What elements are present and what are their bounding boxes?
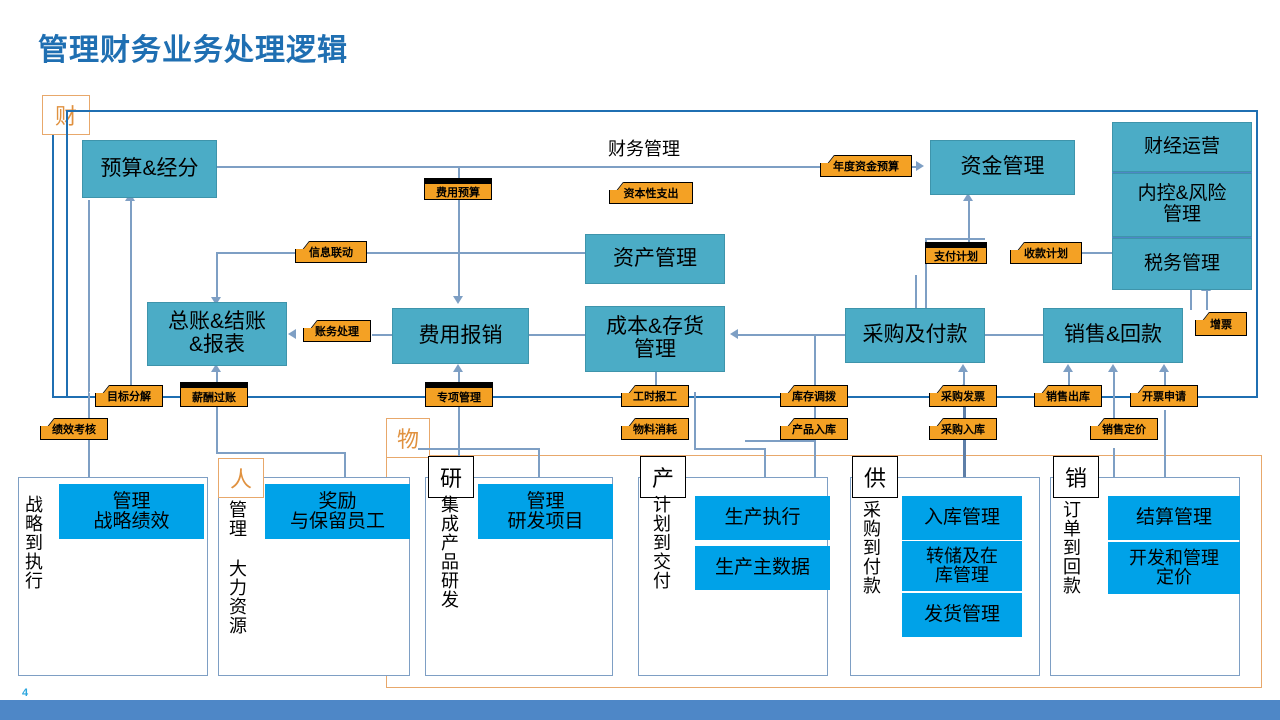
box-asset[interactable]: 资产管理	[585, 234, 725, 284]
box-fund[interactable]: 资金管理	[930, 140, 1075, 195]
hours-down-line	[694, 392, 696, 448]
stock-transfer-line	[814, 334, 816, 494]
tag-acct-process[interactable]: 账务处理	[303, 320, 371, 342]
zone-tab-supply: 供	[852, 456, 898, 498]
tag-salary-post[interactable]: 薪酬过账	[180, 382, 248, 407]
expense-to-gl-line	[372, 334, 392, 336]
budget-to-fund-line	[217, 166, 917, 168]
stock-transfer-rail	[745, 334, 815, 336]
box-gl[interactable]: 总账&结账 &报表	[147, 302, 287, 366]
unit-production-item-0[interactable]: 生产执行	[695, 496, 830, 540]
tag-sales-price[interactable]: 销售定价	[1090, 418, 1158, 440]
finance-left-rail	[66, 110, 68, 398]
goalsplit-to-budget-line	[130, 200, 132, 390]
box-expense[interactable]: 费用报销	[392, 308, 529, 364]
purchase-top-line	[915, 275, 917, 308]
unit-hr-item-0[interactable]: 奖励 与保留员工	[265, 484, 410, 539]
unit-rd-side-label: 集成产品研发	[440, 495, 458, 660]
zone-tab-material: 物	[386, 418, 430, 458]
expense-top-arrow	[453, 296, 463, 304]
sales-arrow-3	[1159, 364, 1169, 372]
page-number: 4	[22, 687, 28, 699]
unit-sales-item-0[interactable]: 结算管理	[1108, 496, 1240, 540]
label-finance-management: 财务管理	[608, 135, 680, 161]
tag-fee-budget[interactable]: 费用预算	[424, 178, 492, 200]
unit-sales-side-label: 订单到回款	[1062, 500, 1080, 660]
unit-supply-item-0[interactable]: 入库管理	[902, 496, 1022, 540]
tag-pay-plan[interactable]: 支付计划	[925, 242, 987, 264]
cost-left-arrow	[730, 329, 738, 339]
salary-down-rail	[216, 452, 344, 454]
sales-to-purchase-line	[985, 334, 1043, 336]
unit-strategy-item-0[interactable]: 管理 战略绩效	[59, 484, 204, 539]
sales-arrow-1	[1063, 364, 1073, 372]
tag-info-link[interactable]: 信息联动	[295, 241, 367, 263]
page-title: 管理财务业务处理逻辑	[38, 25, 348, 69]
tag-stock-transfer[interactable]: 库存调拨	[780, 385, 848, 407]
unit-supply-item-1[interactable]: 转储及在 库管理	[902, 541, 1022, 591]
expense-top-line	[458, 200, 460, 300]
tag-invoice-request[interactable]: 开票申请	[1130, 385, 1198, 407]
zone-tab-production: 产	[640, 456, 686, 498]
cost-to-expense-line	[529, 334, 585, 336]
unit-strategy-side-label: 战略到执行	[24, 495, 42, 655]
footer-bar	[0, 700, 1280, 720]
tag-perf-review[interactable]: 绩效考核	[40, 418, 108, 440]
fund-arrow	[916, 161, 924, 171]
tag-sales-out[interactable]: 销售出库	[1034, 385, 1102, 407]
tag-material-use[interactable]: 物料消耗	[621, 418, 689, 440]
unit-hr-side-label: 管理 大力资源	[228, 500, 246, 660]
special-down-rail	[418, 448, 538, 450]
tag-special-mgmt[interactable]: 专项管理	[425, 382, 493, 407]
infolink-down-line	[216, 252, 218, 302]
zone-tab-hr: 人	[218, 458, 264, 498]
tag-work-hours[interactable]: 工时报工	[621, 385, 689, 407]
tag-annual-fund-plan[interactable]: 年度资金预算	[820, 155, 912, 177]
box-sales-collect[interactable]: 销售&回款	[1043, 308, 1183, 363]
asset-infolink-line	[367, 252, 587, 254]
tag-capital-expend[interactable]: 资本性支出	[609, 182, 693, 204]
box-risk[interactable]: 内控&风险 管理	[1112, 173, 1252, 237]
gl-left-arrow	[288, 329, 296, 339]
expense-bottom-arrow	[453, 364, 463, 372]
zone-tab-rd: 研	[428, 456, 474, 498]
unit-supply-item-2[interactable]: 发货管理	[902, 593, 1022, 637]
tag-goal-split[interactable]: 目标分解	[95, 385, 163, 407]
infolink-left-line	[216, 252, 296, 254]
unit-production-side-label: 计划到交付	[652, 495, 670, 655]
unit-sales-item-1[interactable]: 开发和管理 定价	[1108, 542, 1240, 594]
tag-purchase-invoice[interactable]: 采购发票	[929, 385, 997, 407]
finance-right-rail	[1256, 110, 1258, 398]
product-in-rail	[745, 440, 815, 442]
sales-arrow-2	[1108, 364, 1118, 372]
tag-product-in[interactable]: 产品入库	[780, 418, 848, 440]
finance-top-rail	[66, 110, 1258, 112]
box-fin-ops[interactable]: 财经运营	[1112, 122, 1252, 172]
perf-to-budget-line	[88, 200, 90, 500]
unit-production-item-1[interactable]: 生产主数据	[695, 546, 830, 590]
purchase-bottom-arrow	[958, 364, 968, 372]
box-cost[interactable]: 成本&存货 管理	[585, 306, 725, 372]
hours-down-rail	[694, 448, 764, 450]
box-budget[interactable]: 预算&经分	[82, 140, 217, 198]
zone-tab-sales: 销	[1053, 456, 1099, 498]
tag-receipt-plan[interactable]: 收款计划	[1010, 242, 1082, 264]
unit-rd-item-0[interactable]: 管理 研发项目	[478, 484, 613, 539]
unit-supply-side-label: 采购到付款	[862, 500, 880, 660]
tag-purchase-in[interactable]: 采购入库	[929, 418, 997, 440]
vat-to-tax-line	[1206, 290, 1208, 310]
tag-vat-invoice[interactable]: 增票	[1195, 312, 1247, 336]
payplan-rail	[925, 238, 985, 240]
box-purchase-pay[interactable]: 采购及付款	[845, 308, 985, 363]
salesprice-to-sales-line	[1113, 372, 1115, 424]
box-tax[interactable]: 税务管理	[1112, 238, 1252, 290]
